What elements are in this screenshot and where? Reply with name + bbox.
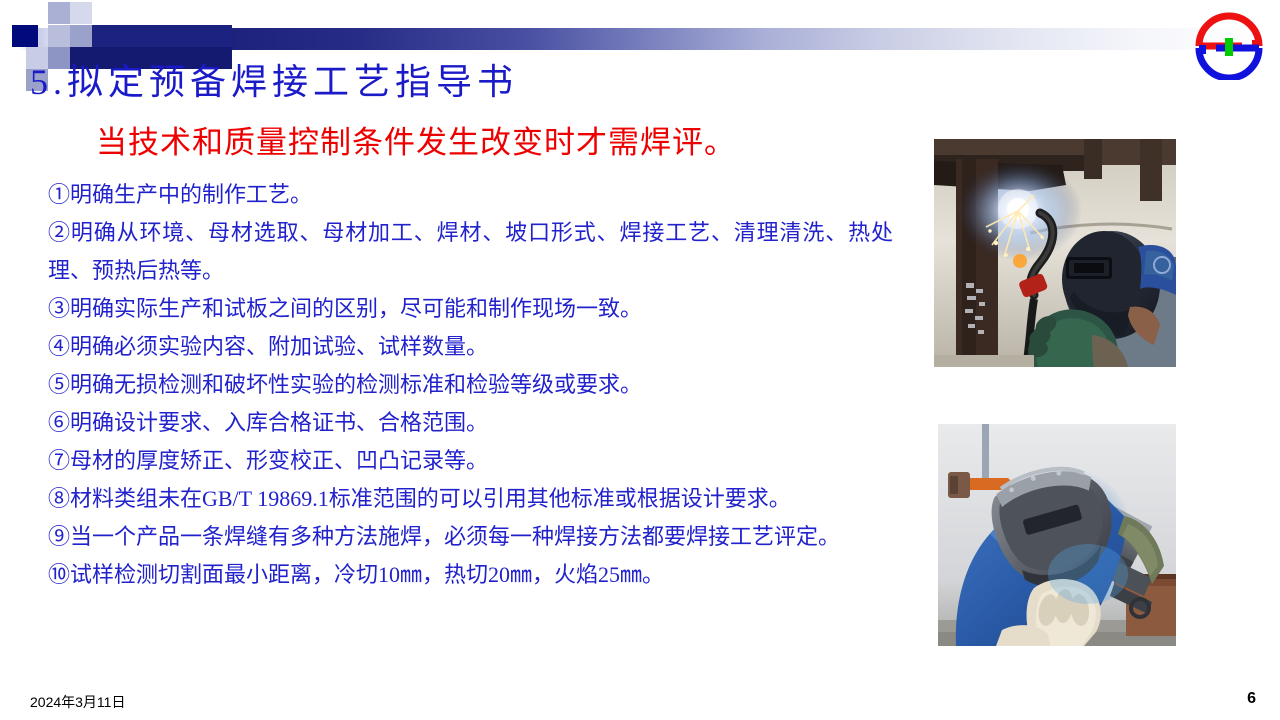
banner-square-4: [48, 25, 70, 47]
banner-square-3: [12, 25, 38, 47]
list-item: ③明确实际生产和试板之间的区别，尽可能和制作现场一致。: [48, 290, 893, 328]
banner-square-1: [48, 2, 70, 24]
photo-welder-overhead: [934, 139, 1176, 367]
photo-welder-pipe: [938, 424, 1176, 646]
company-logo-icon: [1192, 8, 1266, 80]
list-item: ⑨当一个产品一条焊缝有多种方法施焊，必须每一种焊接方法都要焊接工艺评定。: [48, 518, 893, 556]
list-item: ⑧材料类组未在GB/T 19869.1标准范围的可以引用其他标准或根据设计要求。: [48, 480, 893, 518]
banner-block-upper: [92, 25, 232, 47]
list-item: ⑤明确无损检测和破坏性实验的检测标准和检验等级或要求。: [48, 366, 893, 404]
list-item: ①明确生产中的制作工艺。: [48, 176, 893, 214]
slide-subtitle: 当技术和质量控制条件发生改变时才需焊评。: [96, 124, 736, 161]
list-item: ④明确必须实验内容、附加试验、试样数量。: [48, 328, 893, 366]
list-item: ②明确从环境、母材选取、母材加工、焊材、坡口形式、焊接工艺、清理清洗、热处理、预…: [48, 214, 893, 290]
banner-square-2: [70, 2, 92, 24]
footer-date: 2024年3月11日: [30, 692, 125, 712]
banner-square-5: [70, 25, 92, 47]
slide-title: 5.拟定预备焊接工艺指导书: [30, 62, 518, 103]
page-number: 6: [1247, 690, 1256, 708]
list-item: ⑥明确设计要求、入库合格证书、合格范围。: [48, 404, 893, 442]
list-item: ⑦母材的厚度矫正、形变校正、凹凸记录等。: [48, 442, 893, 480]
list-item: ⑩试样检测切割面最小距离，冷切10㎜，热切20㎜，火焰25㎜。: [48, 556, 893, 594]
content-list: ①明确生产中的制作工艺。 ②明确从环境、母材选取、母材加工、焊材、坡口形式、焊接…: [48, 176, 893, 594]
